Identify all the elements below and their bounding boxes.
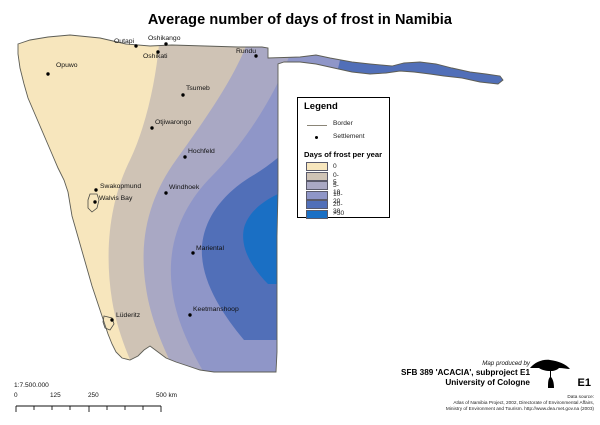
data-source-line-2: Ministry of Environment and Tourism. htt…: [382, 406, 594, 412]
settlement-label: Rundu: [236, 48, 256, 55]
settlement-dot: [183, 155, 186, 158]
settlement-label: Hochfeld: [188, 148, 215, 155]
legend-swatch: [306, 172, 328, 181]
settlement-dot: [188, 313, 191, 316]
settlement-dot: [191, 251, 194, 254]
settlement-label: Tsumeb: [186, 85, 210, 92]
settlement-dot: [110, 318, 113, 321]
produced-by-label: Map produced by: [390, 360, 530, 367]
settlement-label: Oshikango: [148, 35, 181, 42]
legend-class-label: >30: [333, 210, 344, 217]
credit-block: Map produced by SFB 389 'ACACIA', subpro…: [390, 360, 530, 388]
settlement-label: Outapi: [114, 38, 135, 45]
settlement-dot: [164, 42, 167, 45]
settlement-label: Windhoek: [169, 184, 200, 191]
settlement-label: Walvis Bay: [99, 195, 133, 202]
settlement-label: Keetmanshoop: [193, 306, 239, 313]
settlement-label: Lüderitz: [116, 312, 141, 319]
legend-class-label: 0: [333, 163, 337, 170]
settlement-label: Mariental: [196, 245, 224, 252]
settlement-dot: [150, 126, 153, 129]
legend-border-label: Border: [333, 120, 353, 127]
credit-line-1: SFB 389 'ACACIA', subproject E1: [390, 368, 530, 378]
settlement-dot: [164, 191, 167, 194]
acacia-tree-logo: E1: [527, 357, 593, 391]
legend-panel: Legend Border Settlement Days of frost p…: [297, 97, 390, 218]
scale-tick-label: 125: [50, 392, 61, 399]
legend-swatch: [306, 191, 328, 200]
acacia-tree-icon: [527, 357, 573, 391]
map-page: Average number of days of frost in Namib…: [0, 0, 600, 425]
settlement-label: Swakopmund: [100, 183, 141, 190]
settlement-label: Opuwo: [56, 62, 78, 69]
settlement-dot: [46, 72, 49, 75]
scale-tick-label: 250: [88, 392, 99, 399]
settlement-dot: [181, 93, 184, 96]
legend-classes-heading: Days of frost per year: [304, 150, 382, 159]
border-line-icon: [307, 125, 327, 126]
credit-line-2: University of Cologne: [390, 378, 530, 388]
legend-swatch: [306, 210, 328, 219]
scale-bar: 1:7.500.000 0125250500 km: [14, 382, 189, 419]
settlement-label: Oshikati: [143, 53, 168, 60]
scale-ratio: 1:7.500.000: [14, 382, 189, 389]
data-source-block: Data source: Atlas of Namibia Project, 2…: [382, 394, 594, 412]
legend-swatch: [306, 181, 328, 190]
legend-swatch: [306, 200, 328, 209]
legend-swatch: [306, 162, 328, 171]
scale-tick-label: 500 km: [156, 392, 177, 399]
scale-ruler: [14, 404, 189, 414]
legend-heading: Legend: [304, 101, 338, 112]
legend-settlement-label: Settlement: [333, 133, 365, 140]
logo-e1-text: E1: [578, 377, 591, 389]
settlement-dot: [134, 44, 137, 47]
settlement-label: Otjiwarongo: [155, 119, 191, 126]
settlement-dot: [93, 200, 96, 203]
scale-tick-labels: 0125250500 km: [14, 392, 189, 401]
settlement-dot: [94, 188, 97, 191]
settlement-dot-icon: [315, 136, 318, 139]
scale-tick-label: 0: [14, 392, 18, 399]
